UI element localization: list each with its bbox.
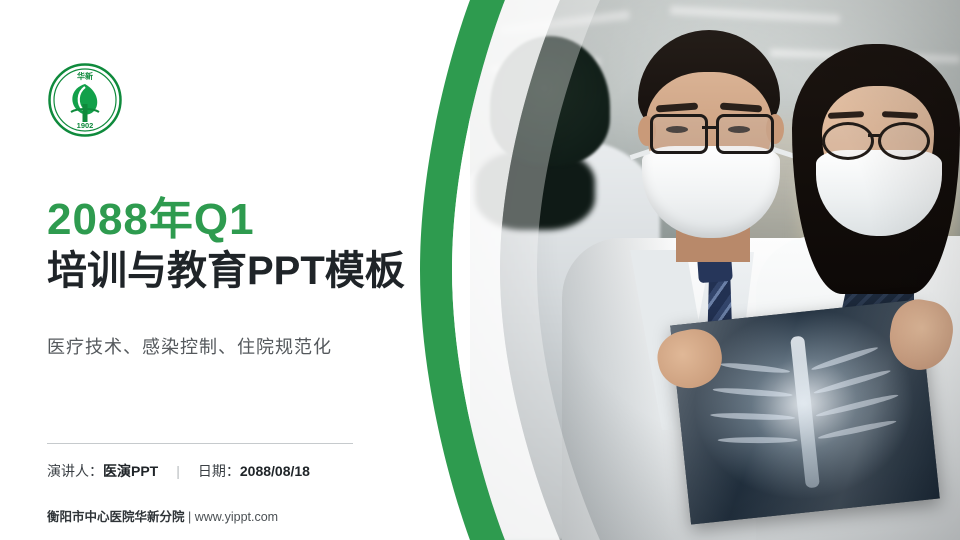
- subtitle: 医疗技术、感染控制、住院规范化: [47, 333, 332, 359]
- title-line-secondary: 培训与教育PPT模板: [47, 248, 467, 295]
- date-label: 日期：: [198, 461, 240, 481]
- speaker-label: 演讲人：: [47, 461, 103, 481]
- meta-separator: |: [176, 463, 180, 479]
- footer-divider: |: [188, 510, 191, 524]
- speaker-value: 医演PPT: [103, 461, 158, 481]
- cover-photo: [470, 0, 960, 540]
- hospital-logo: 华新 1902: [47, 62, 123, 138]
- title-line-primary: 2088年Q1: [47, 196, 467, 244]
- title-block: 2088年Q1 培训与教育PPT模板: [47, 196, 467, 295]
- presentation-title-slide: 华新 1902 2088年Q1 培训与教育PPT模板 医疗技术、感染控制、住院规…: [0, 0, 960, 540]
- logo-year: 1902: [77, 121, 94, 130]
- divider-line: [47, 443, 353, 444]
- photo-vignette: [470, 0, 960, 540]
- date-value: 2088/08/18: [240, 463, 310, 479]
- footer: 衡阳市中心医院华新分院 | www.yippt.com: [47, 506, 278, 525]
- svg-text:华新: 华新: [77, 71, 93, 81]
- footer-website: www.yippt.com: [195, 510, 278, 524]
- footer-organization: 衡阳市中心医院华新分院: [47, 510, 185, 524]
- presenter-meta: 演讲人： 医演PPT | 日期： 2088/08/18: [47, 461, 310, 481]
